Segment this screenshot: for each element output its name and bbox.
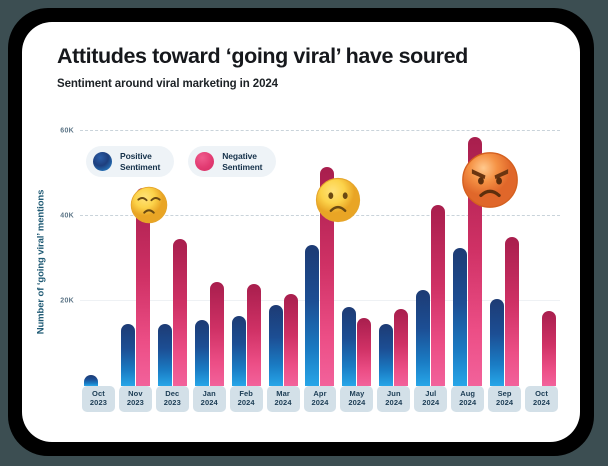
- x-tick-line: 2023: [82, 398, 115, 407]
- x-tick-line: Feb: [230, 389, 263, 398]
- bar-negative[interactable]: [357, 318, 371, 386]
- bar-positive[interactable]: [232, 316, 246, 386]
- bar-negative[interactable]: [210, 282, 224, 386]
- y-tick-label: 20K: [60, 297, 74, 304]
- x-tick-feb-2024: Feb2024: [230, 386, 263, 412]
- y-tick-label: 60K: [60, 127, 74, 134]
- x-tick-line: 2024: [377, 398, 410, 407]
- legend-swatch-positive-icon: [93, 152, 112, 171]
- x-tick-line: 2024: [414, 398, 447, 407]
- y-axis-label: Number of ‘going viral’ mentions: [36, 190, 47, 335]
- legend-label: NegativeSentiment: [222, 151, 262, 172]
- bar-negative[interactable]: [284, 294, 298, 386]
- x-tick-line: 2024: [525, 398, 558, 407]
- page-title: Attitudes toward ‘going viral’ have sour…: [57, 44, 468, 69]
- x-tick-dec-2023: Dec2023: [156, 386, 189, 412]
- x-tick-line: 2024: [451, 398, 484, 407]
- legend-item-positive[interactable]: PositiveSentiment: [86, 146, 174, 177]
- x-tick-line: Dec: [156, 389, 189, 398]
- weary-face-emoji: [130, 186, 168, 224]
- x-tick-sep-2024: Sep2024: [488, 386, 521, 412]
- bar-positive[interactable]: [490, 299, 504, 386]
- bar-group: [412, 122, 449, 386]
- x-tick-jul-2024: Jul2024: [414, 386, 447, 412]
- x-tick-line: 2024: [304, 398, 337, 407]
- x-axis-ticks: Oct2023Nov2023Dec2023Jan2024Feb2024Mar20…: [80, 386, 560, 420]
- x-tick-line: Jul: [414, 389, 447, 398]
- x-tick-line: 2024: [267, 398, 300, 407]
- x-tick-line: 2024: [340, 398, 373, 407]
- bar-positive[interactable]: [158, 324, 172, 386]
- bar-negative[interactable]: [173, 239, 187, 386]
- bar-negative[interactable]: [542, 311, 556, 386]
- bar-group: [523, 122, 560, 386]
- chart-card: Attitudes toward ‘going viral’ have sour…: [22, 22, 580, 442]
- x-tick-aug-2024: Aug2024: [451, 386, 484, 412]
- bar-positive[interactable]: [84, 375, 98, 386]
- legend-swatch-negative-icon: [195, 152, 214, 171]
- bar-positive[interactable]: [416, 290, 430, 386]
- y-tick-label: 40K: [60, 212, 74, 219]
- legend-label-line: Negative: [222, 151, 262, 162]
- bar-positive[interactable]: [121, 324, 135, 386]
- x-tick-line: Nov: [119, 389, 152, 398]
- bar-negative[interactable]: [431, 205, 445, 386]
- x-tick-line: 2023: [156, 398, 189, 407]
- bar-negative[interactable]: [505, 237, 519, 386]
- x-tick-line: 2024: [230, 398, 263, 407]
- x-tick-line: Oct: [525, 389, 558, 398]
- bar-negative[interactable]: [247, 284, 261, 386]
- legend-label-line: Sentiment: [222, 162, 262, 173]
- legend-label-line: Positive: [120, 151, 160, 162]
- screenshot-root: Attitudes toward ‘going viral’ have sour…: [0, 0, 608, 466]
- bar-positive[interactable]: [342, 307, 356, 386]
- bar-positive[interactable]: [305, 245, 319, 386]
- bar-group: [338, 122, 375, 386]
- x-tick-apr-2024: Apr2024: [304, 386, 337, 412]
- legend-label: PositiveSentiment: [120, 151, 160, 172]
- legend-label-line: Sentiment: [120, 162, 160, 173]
- x-tick-line: 2024: [488, 398, 521, 407]
- x-tick-line: Apr: [304, 389, 337, 398]
- bar-group: [302, 122, 339, 386]
- bar-positive[interactable]: [379, 324, 393, 386]
- x-tick-line: Aug: [451, 389, 484, 398]
- x-tick-line: Jun: [377, 389, 410, 398]
- frowning-face-emoji: [315, 177, 361, 223]
- x-tick-line: Mar: [267, 389, 300, 398]
- x-tick-line: 2023: [119, 398, 152, 407]
- chart-legend: PositiveSentimentNegativeSentiment: [86, 146, 276, 177]
- x-tick-line: Sep: [488, 389, 521, 398]
- page-subtitle: Sentiment around viral marketing in 2024: [57, 78, 278, 90]
- angry-face-emoji: [461, 151, 519, 209]
- x-tick-oct-2023: Oct2023: [82, 386, 115, 412]
- bar-positive[interactable]: [453, 248, 467, 386]
- legend-item-negative[interactable]: NegativeSentiment: [188, 146, 276, 177]
- x-tick-may-2024: May2024: [340, 386, 373, 412]
- bar-positive[interactable]: [195, 320, 209, 386]
- x-tick-jan-2024: Jan2024: [193, 386, 226, 412]
- x-tick-line: May: [340, 389, 373, 398]
- x-tick-line: Jan: [193, 389, 226, 398]
- bar-positive[interactable]: [269, 305, 283, 386]
- bar-negative[interactable]: [394, 309, 408, 386]
- x-tick-nov-2023: Nov2023: [119, 386, 152, 412]
- x-tick-line: Oct: [82, 389, 115, 398]
- bar-group: [375, 122, 412, 386]
- x-tick-line: 2024: [193, 398, 226, 407]
- x-tick-mar-2024: Mar2024: [267, 386, 300, 412]
- x-tick-oct-2024: Oct2024: [525, 386, 558, 412]
- x-tick-jun-2024: Jun2024: [377, 386, 410, 412]
